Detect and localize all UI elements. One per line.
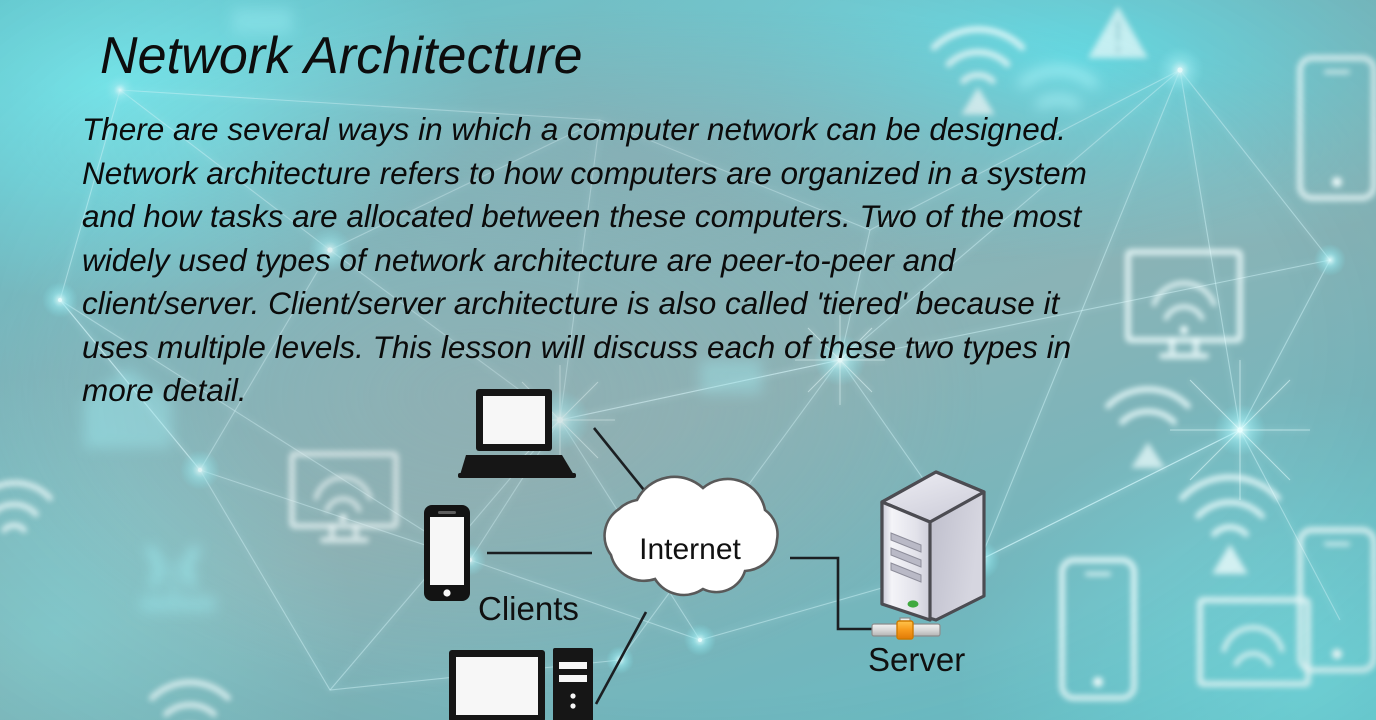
- network-diagram: [0, 0, 1376, 720]
- link-internet-to-server: [790, 558, 872, 629]
- link-desktop-to-internet: [596, 612, 646, 704]
- server-label: Server: [868, 641, 965, 679]
- server-led-icon: [908, 600, 919, 607]
- slide-canvas: Network Architecture There are several w…: [0, 0, 1376, 720]
- server-tower-icon: [872, 472, 984, 639]
- laptop-icon: [458, 389, 576, 478]
- smartphone-icon: [424, 505, 470, 601]
- internet-label: Internet: [605, 533, 775, 567]
- clients-label: Clients: [478, 590, 579, 628]
- desktop-computer-icon: [449, 648, 593, 720]
